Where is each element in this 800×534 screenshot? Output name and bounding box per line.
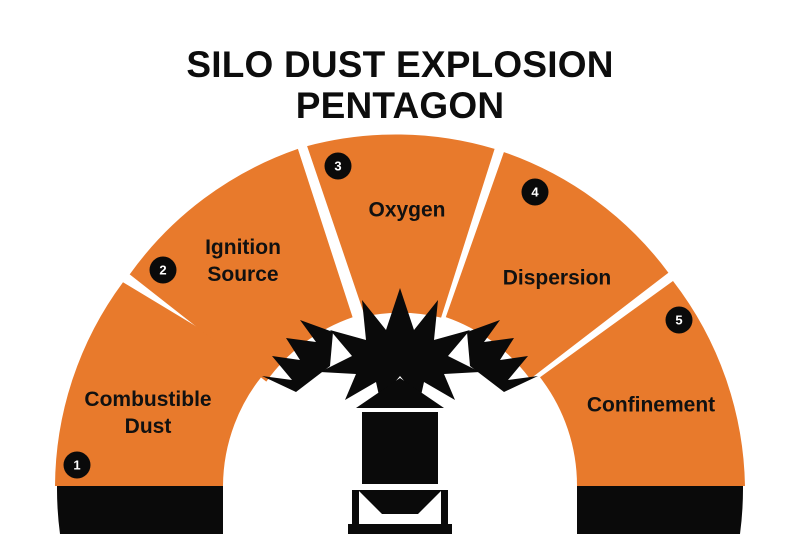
- segment-badge-5[interactable]: 5: [666, 307, 693, 334]
- segment-badge-2[interactable]: 2: [150, 257, 177, 284]
- infographic-canvas: SILO DUST EXPLOSION PENTAGON: [0, 0, 800, 534]
- dust-explosion-pentagon-diagram: [0, 0, 800, 534]
- segment-badge-1[interactable]: 1: [64, 452, 91, 479]
- segment-badge-4[interactable]: 4: [522, 179, 549, 206]
- segment-badge-3[interactable]: 3: [325, 153, 352, 180]
